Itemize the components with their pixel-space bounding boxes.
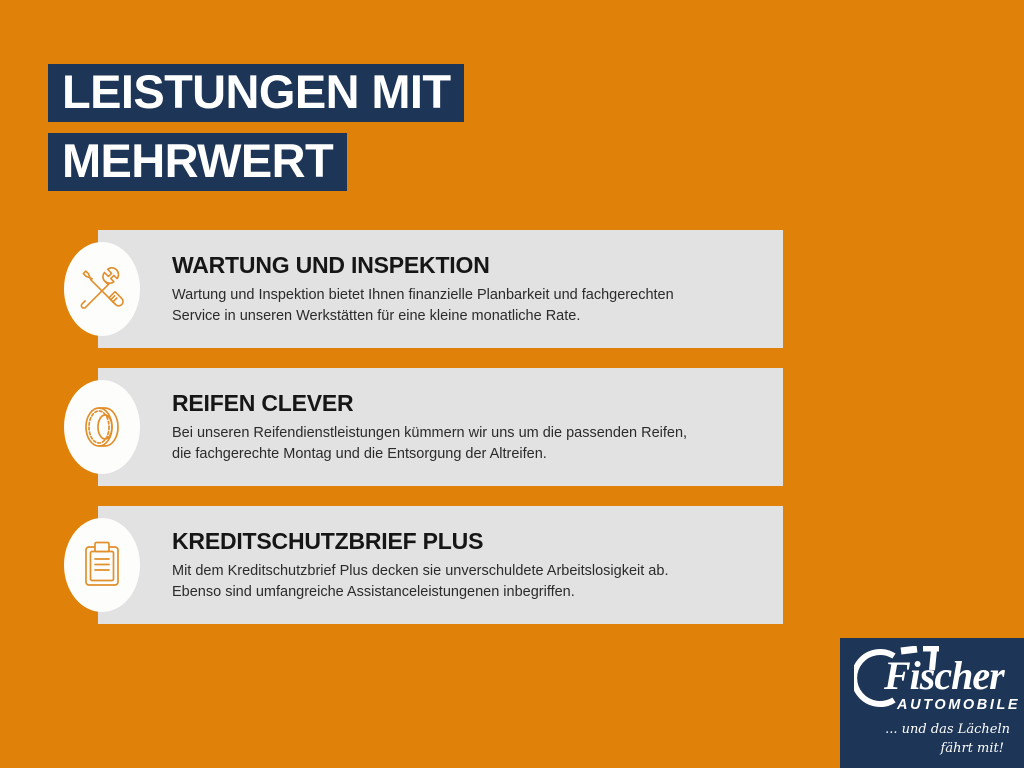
service-card[interactable]: WARTUNG UND INSPEKTION Wartung und Inspe…: [98, 230, 783, 348]
service-card-title: WARTUNG UND INSPEKTION: [172, 252, 759, 278]
service-card-text-line-2: Service in unseren Werkstätten für eine …: [172, 306, 759, 327]
service-card-title: KREDITSCHUTZBRIEF PLUS: [172, 528, 759, 554]
service-card-text-line-1: Mit dem Kreditschutzbrief Plus decken si…: [172, 561, 759, 582]
page-title: LEISTUNGEN MIT MEHRWERT: [48, 64, 464, 191]
logo-subtitle: AUTOMOBILE: [897, 697, 1020, 713]
logo-wordmark: Fischer: [884, 654, 1004, 698]
service-card-text: Wartung und Inspektion bietet Ihnen fina…: [172, 285, 759, 327]
service-card-text: Bei unseren Reifendienstleistungen kümme…: [172, 423, 759, 465]
service-card-text-line-1: Wartung und Inspektion bietet Ihnen fina…: [172, 285, 759, 306]
service-card-body: REIFEN CLEVER Bei unseren Reifendienstle…: [172, 390, 759, 465]
logo-tagline: ... und das Lächeln fährt mit!: [840, 720, 1024, 758]
service-card-text-line-2: die fachgerechte Montag und die Entsorgu…: [172, 444, 759, 465]
service-card[interactable]: REIFEN CLEVER Bei unseren Reifendienstle…: [98, 368, 783, 486]
slide-root: { "theme": { "background": "#e08209", "n…: [0, 0, 1024, 768]
service-card-text-line-1: Bei unseren Reifendienstleistungen kümme…: [172, 423, 759, 444]
service-card-text-line-2: Ebenso sind umfangreiche Assistanceleist…: [172, 582, 759, 603]
service-card[interactable]: KREDITSCHUTZBRIEF PLUS Mit dem Kreditsch…: [98, 506, 783, 624]
service-card-text: Mit dem Kreditschutzbrief Plus decken si…: [172, 561, 759, 603]
page-title-line-1: LEISTUNGEN MIT: [48, 64, 464, 122]
service-card-body: KREDITSCHUTZBRIEF PLUS Mit dem Kreditsch…: [172, 528, 759, 603]
logo: Fischer AUTOMOBILE ... und das Lächeln f…: [840, 638, 1024, 768]
service-card-title: REIFEN CLEVER: [172, 390, 759, 416]
tools-icon: [64, 242, 140, 336]
service-card-body: WARTUNG UND INSPEKTION Wartung und Inspe…: [172, 252, 759, 327]
service-card-list: WARTUNG UND INSPEKTION Wartung und Inspe…: [98, 230, 783, 624]
tire-icon: [64, 380, 140, 474]
page-title-line-2: MEHRWERT: [48, 133, 347, 191]
clipboard-icon: [64, 518, 140, 612]
logo-tagline-line-1: ... und das Lächeln: [885, 722, 1010, 737]
logo-tagline-line-2: fährt mit!: [840, 739, 1010, 758]
